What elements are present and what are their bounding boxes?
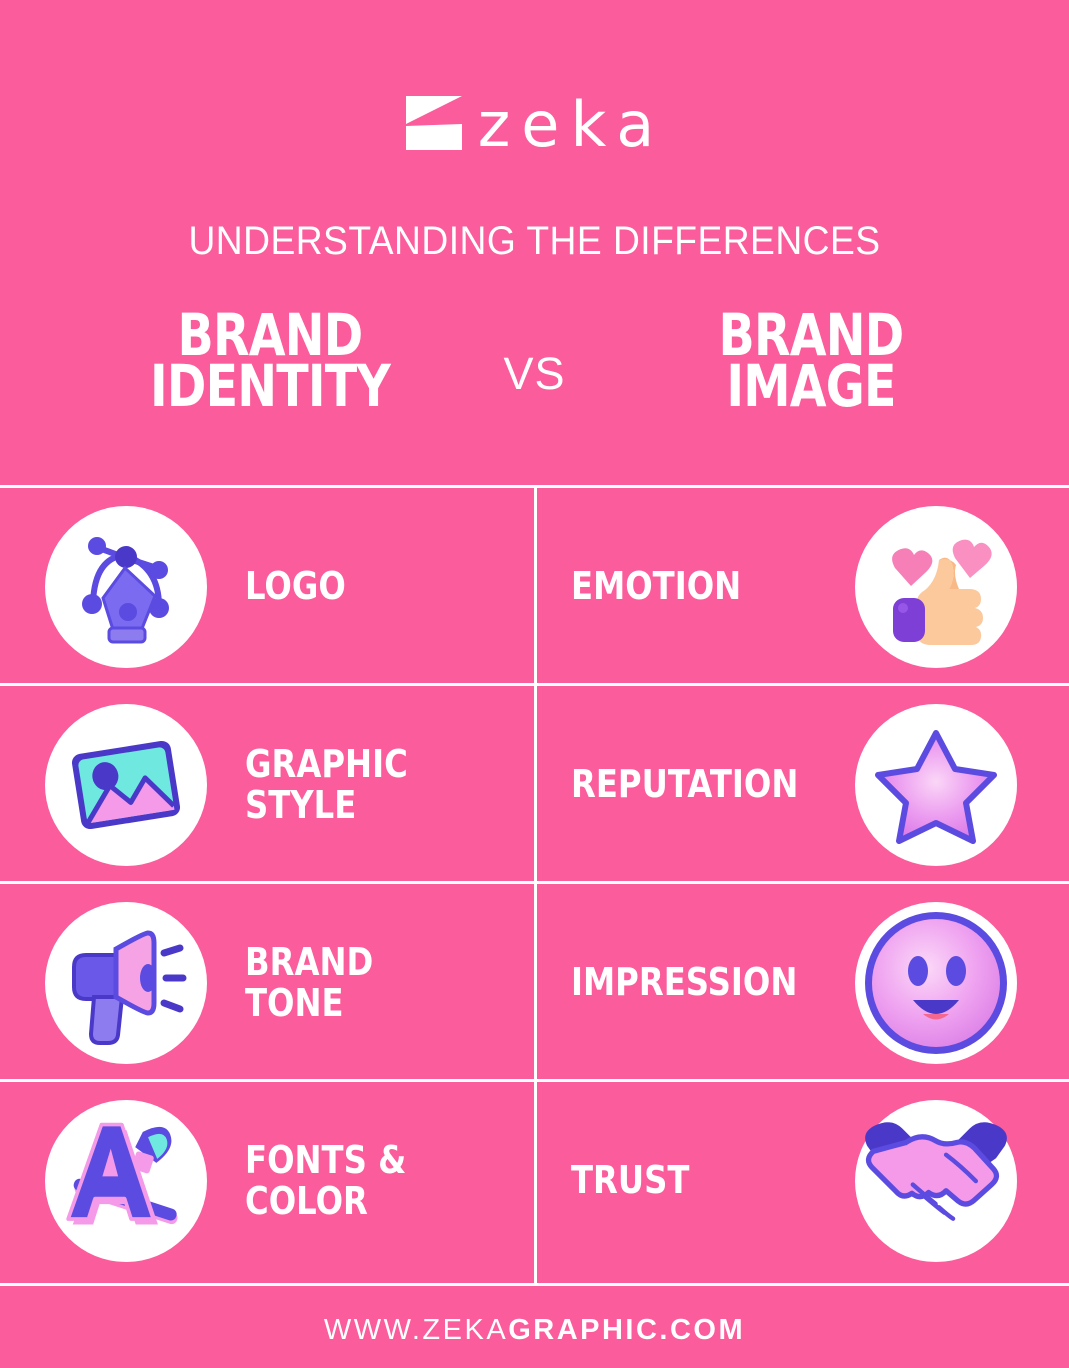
- handshake-icon: [855, 1100, 1017, 1262]
- cell-identity-fonts-color: FONTS & COLOR: [0, 1082, 534, 1280]
- cell-label: BRAND TONE: [245, 942, 373, 1024]
- table-row: BRAND TONE IMPRESSION: [0, 884, 1069, 1082]
- cell-image-emotion: EMOTION: [534, 488, 1069, 686]
- table-row: GRAPHIC STYLE REPUTATION: [0, 686, 1069, 884]
- cell-image-impression: IMPRESSION: [534, 884, 1069, 1082]
- star-icon: [855, 704, 1017, 866]
- table-row: LOGO EMOTION: [0, 488, 1069, 686]
- cell-image-trust: TRUST: [534, 1082, 1069, 1280]
- cell-image-reputation: REPUTATION: [534, 686, 1069, 884]
- pen-tool-icon: [45, 506, 207, 668]
- table-row: FONTS & COLOR TRUST: [0, 1082, 1069, 1280]
- footer-url-bold: GRAPHIC.COM: [508, 1314, 745, 1346]
- image-picture-icon: [45, 704, 207, 866]
- smiley-face-icon: [855, 902, 1017, 1064]
- footer-url: WWW.ZEKAGRAPHIC.COM: [0, 1314, 1069, 1347]
- cell-label: IMPRESSION: [571, 962, 852, 1003]
- cell-label: EMOTION: [571, 566, 852, 607]
- infographic-page: zeka UNDERSTANDING THE DIFFERENCES BRAND…: [0, 0, 1069, 1368]
- thumbs-up-hearts-icon: [855, 506, 1017, 668]
- cell-identity-logo: LOGO: [0, 488, 534, 686]
- letter-a-paintbrush-icon: [45, 1100, 207, 1262]
- comparison-grid: LOGO EMOTION: [0, 485, 1069, 1283]
- cell-label: LOGO: [245, 566, 346, 607]
- footer-section: WWW.ZEKAGRAPHIC.COM: [0, 1283, 1069, 1368]
- cell-identity-graphic-style: GRAPHIC STYLE: [0, 686, 534, 884]
- cell-label: GRAPHIC STYLE: [245, 744, 408, 826]
- cell-label: FONTS & COLOR: [245, 1140, 406, 1222]
- brand-logo: zeka: [0, 92, 1069, 154]
- header-section: zeka UNDERSTANDING THE DIFFERENCES BRAND…: [0, 0, 1069, 485]
- cell-label: TRUST: [571, 1160, 852, 1201]
- cell-identity-brand-tone: BRAND TONE: [0, 884, 534, 1082]
- footer-url-thin: WWW.ZEKA: [324, 1314, 508, 1346]
- megaphone-icon: [45, 902, 207, 1064]
- cell-label: REPUTATION: [571, 764, 852, 805]
- vs-label: VS: [0, 348, 1069, 400]
- footer-divider: [0, 1283, 1069, 1286]
- header-subtitle: UNDERSTANDING THE DIFFERENCES: [37, 219, 1031, 264]
- zeka-z-mark-icon: [404, 94, 464, 152]
- brand-logo-text: zeka: [478, 94, 666, 156]
